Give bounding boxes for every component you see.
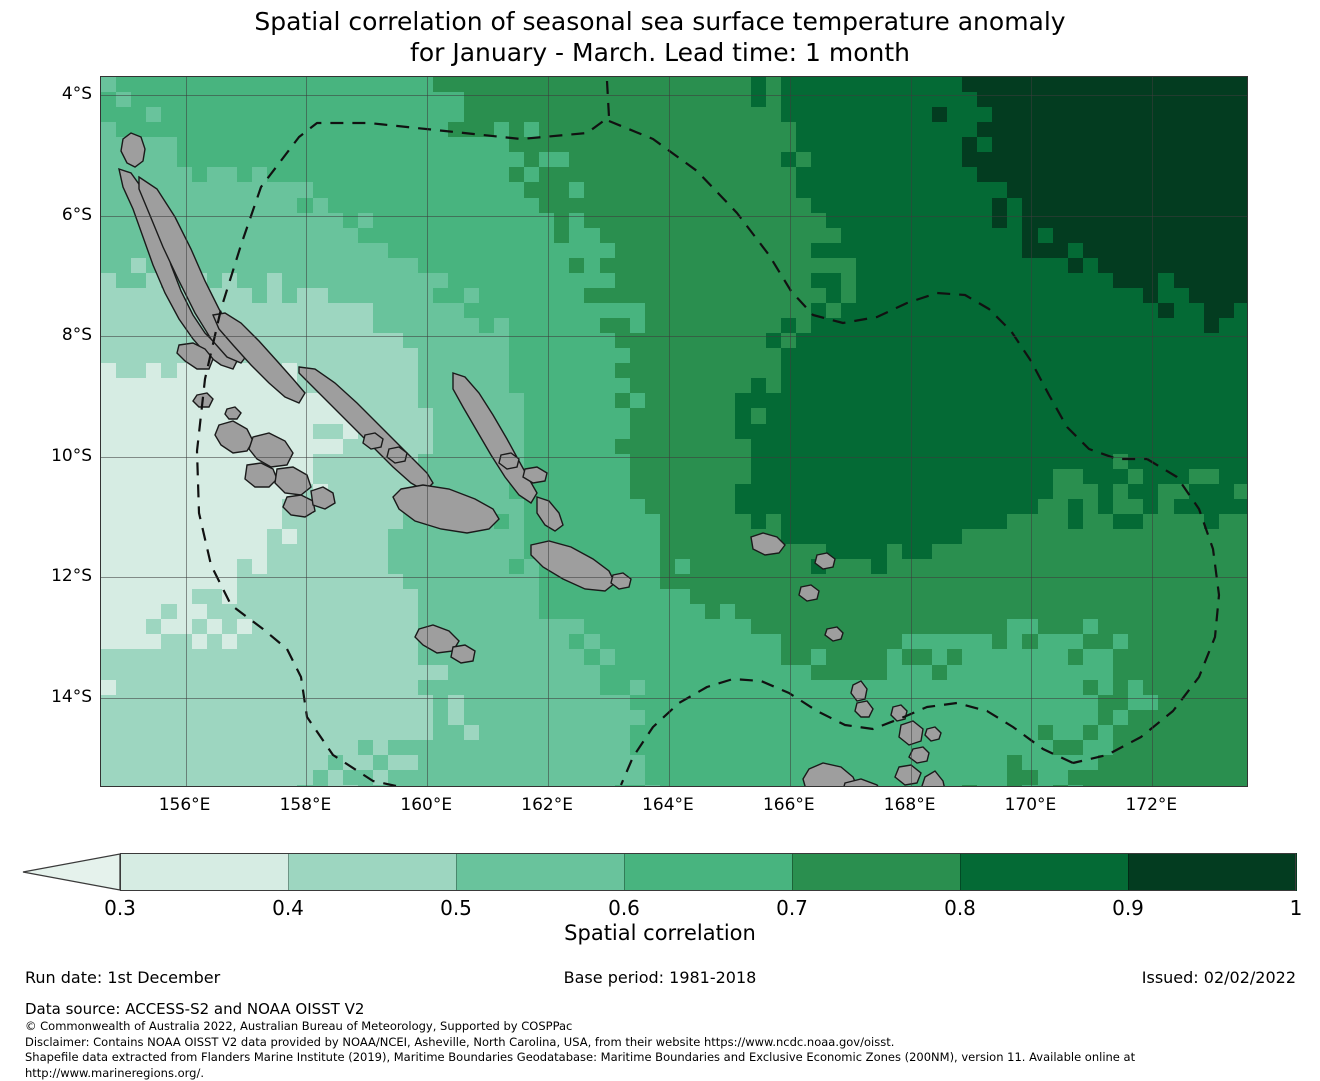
y-tick-label: 12°S	[51, 566, 92, 586]
gridline-vertical	[669, 77, 670, 786]
x-tick-label: 170°E	[990, 795, 1070, 815]
gridline-horizontal	[101, 95, 1247, 96]
base-period-text: Base period: 1981-2018	[0, 968, 1320, 987]
colorbar[interactable]	[0, 853, 1320, 893]
x-tick-label: 158°E	[265, 795, 345, 815]
colorbar-band[interactable]	[960, 853, 1129, 891]
colorbar-tick-label: 0.5	[416, 896, 496, 920]
gridline-horizontal	[101, 698, 1247, 699]
colorbar-tick-label: 1	[1256, 896, 1320, 920]
colorbar-tick-mark	[624, 853, 625, 891]
colorbar-band[interactable]	[624, 853, 793, 891]
colorbar-band[interactable]	[1128, 853, 1297, 891]
colorbar-tick-mark	[288, 853, 289, 891]
colorbar-tick-label: 0.4	[248, 896, 328, 920]
x-tick-label: 172°E	[1111, 795, 1191, 815]
title-line-1: Spatial correlation of seasonal sea surf…	[0, 6, 1320, 37]
title-line-2: for January - March. Lead time: 1 month	[0, 37, 1320, 68]
colorbar-band[interactable]	[288, 853, 457, 891]
colorbar-tick-label: 0.3	[80, 896, 160, 920]
gridline-vertical	[186, 77, 187, 786]
colorbar-band[interactable]	[456, 853, 625, 891]
colorbar-tick-label: 0.6	[584, 896, 664, 920]
colorbar-bands[interactable]	[120, 853, 1296, 891]
colorbar-tick-label: 0.9	[1088, 896, 1168, 920]
colorbar-tick-mark	[456, 853, 457, 891]
gridline-vertical	[306, 77, 307, 786]
x-tick-label: 162°E	[507, 795, 587, 815]
gridline-vertical	[1152, 77, 1153, 786]
disclaimer-text: Disclaimer: Contains NOAA OISST V2 data …	[25, 1035, 1305, 1051]
copyright-text: © Commonwealth of Australia 2022, Austra…	[25, 1019, 1305, 1035]
colorbar-band[interactable]	[120, 853, 289, 891]
gridline-vertical	[1031, 77, 1032, 786]
y-tick-label: 14°S	[51, 687, 92, 707]
gridline-vertical	[548, 77, 549, 786]
colorbar-under-arrow	[22, 853, 120, 891]
colorbar-tick-mark	[792, 853, 793, 891]
page-title: Spatial correlation of seasonal sea surf…	[0, 6, 1320, 68]
x-tick-label: 166°E	[749, 795, 829, 815]
gridline-horizontal	[101, 336, 1247, 337]
colorbar-axis-label: Spatial correlation	[0, 921, 1320, 945]
shapefile-credit-line-1: Shapefile data extracted from Flanders M…	[25, 1050, 1305, 1066]
issued-date-text: Issued: 02/02/2022	[1142, 968, 1296, 987]
x-tick-label: 168°E	[870, 795, 950, 815]
map-plot-area[interactable]	[100, 76, 1248, 787]
y-tick-label: 8°S	[62, 325, 92, 345]
map-canvas[interactable]	[100, 76, 1248, 787]
gridline-horizontal	[101, 457, 1247, 458]
x-tick-label: 156°E	[145, 795, 225, 815]
x-tick-label: 160°E	[386, 795, 466, 815]
colorbar-band[interactable]	[792, 853, 961, 891]
gridline-vertical	[911, 77, 912, 786]
gridline-horizontal	[101, 577, 1247, 578]
x-tick-label: 164°E	[628, 795, 708, 815]
gridline-horizontal	[101, 216, 1247, 217]
gridline-vertical	[790, 77, 791, 786]
shapefile-credit-line-2: http://www.marineregions.org/.	[25, 1066, 1305, 1081]
y-tick-label: 4°S	[62, 84, 92, 104]
colorbar-tick-mark	[1128, 853, 1129, 891]
footer-metadata-row: Run date: 1st December Base period: 1981…	[0, 968, 1320, 990]
colorbar-tick-label: 0.8	[920, 896, 1000, 920]
data-source-text: Data source: ACCESS-S2 and NOAA OISST V2	[25, 1000, 364, 1018]
eez-boundary-layer	[101, 77, 1248, 787]
colorbar-tick-mark	[960, 853, 961, 891]
y-tick-label: 10°S	[51, 446, 92, 466]
y-tick-label: 6°S	[62, 205, 92, 225]
footer-fine-print: © Commonwealth of Australia 2022, Austra…	[25, 1019, 1305, 1081]
colorbar-tick-label: 0.7	[752, 896, 832, 920]
gridline-vertical	[427, 77, 428, 786]
